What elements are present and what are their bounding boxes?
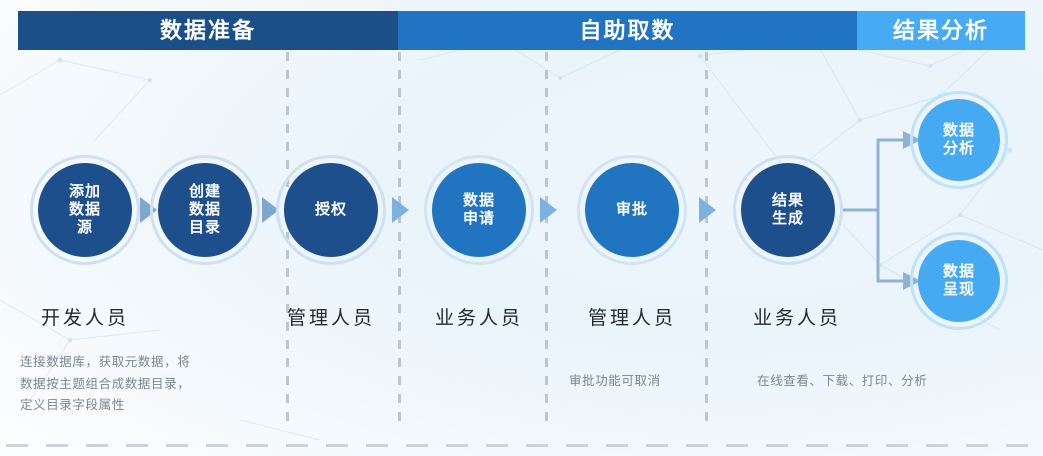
lane-divider-4 — [705, 52, 708, 424]
note-result-analysis: 在线查看、下载、打印、分析 — [757, 371, 1017, 393]
phase-band-label: 自助取数 — [579, 20, 675, 42]
node-data-present[interactable]: 数据 呈现 — [918, 240, 1000, 322]
node-label-line: 数据 — [943, 122, 975, 140]
phase-band-result-analysis[interactable]: 结果分析 — [857, 11, 1025, 50]
node-label-line: 源 — [69, 219, 101, 237]
node-label-line: 添加 — [69, 183, 101, 201]
node-label-line: 数据 — [463, 192, 495, 210]
node-approval[interactable]: 审批 — [585, 163, 679, 257]
note-line: 定义目录字段属性 — [20, 395, 272, 417]
phase-band-label: 数据准备 — [160, 20, 256, 42]
bottom-divider — [6, 444, 1037, 447]
node-label-line: 结果 — [772, 192, 804, 210]
node-label-line: 生成 — [772, 210, 804, 228]
node-label-line: 审批 — [616, 201, 648, 219]
node-create-catalog[interactable]: 创建 数据 目录 — [158, 163, 252, 257]
phase-band-data-preparation[interactable]: 数据准备 — [18, 11, 398, 50]
role-label-admin-1: 管理人员 — [287, 303, 375, 330]
note-approval-optional: 审批功能可取消 — [569, 371, 709, 393]
node-label-line: 授权 — [315, 201, 347, 219]
diagram-canvas: 数据准备 自助取数 结果分析 添加 数据 源 — [0, 0, 1043, 456]
phase-band-label: 结果分析 — [893, 20, 989, 42]
node-label-line: 数据 — [943, 263, 975, 281]
node-add-datasource[interactable]: 添加 数据 源 — [38, 163, 132, 257]
node-label-line: 呈现 — [943, 281, 975, 299]
phase-band-row: 数据准备 自助取数 结果分析 — [18, 11, 1025, 50]
note-line: 数据按主题组合成数据目录， — [20, 374, 272, 396]
phase-band-self-service-query[interactable]: 自助取数 — [398, 11, 857, 50]
arrow-approval-to-result-generate — [699, 197, 716, 223]
node-authorize[interactable]: 授权 — [284, 163, 378, 257]
role-label-business-1: 业务人员 — [435, 303, 523, 330]
note-data-preparation: 连接数据库，获取元数据，将 数据按主题组合成数据目录， 定义目录字段属性 — [20, 352, 272, 417]
node-label-line: 目录 — [189, 219, 221, 237]
node-label-line: 申请 — [463, 210, 495, 228]
node-label-line: 数据 — [189, 201, 221, 219]
node-label-line: 分析 — [943, 140, 975, 158]
node-data-request[interactable]: 数据 申请 — [432, 163, 526, 257]
note-line: 在线查看、下载、打印、分析 — [757, 371, 1017, 393]
role-label-business-2: 业务人员 — [753, 303, 841, 330]
note-line: 连接数据库，获取元数据，将 — [20, 352, 272, 374]
node-label-line: 创建 — [189, 183, 221, 201]
lane-divider-3 — [545, 52, 548, 424]
node-label-line: 数据 — [69, 201, 101, 219]
node-data-analysis[interactable]: 数据 分析 — [918, 99, 1000, 181]
note-line: 审批功能可取消 — [569, 371, 709, 393]
role-label-developer: 开发人员 — [41, 303, 129, 330]
lane-divider-2 — [398, 52, 401, 424]
arrow-authorize-to-data-request — [392, 197, 409, 223]
arrow-data-request-to-approval — [540, 197, 557, 223]
role-label-admin-2: 管理人员 — [588, 303, 676, 330]
node-result-generate[interactable]: 结果 生成 — [741, 163, 835, 257]
